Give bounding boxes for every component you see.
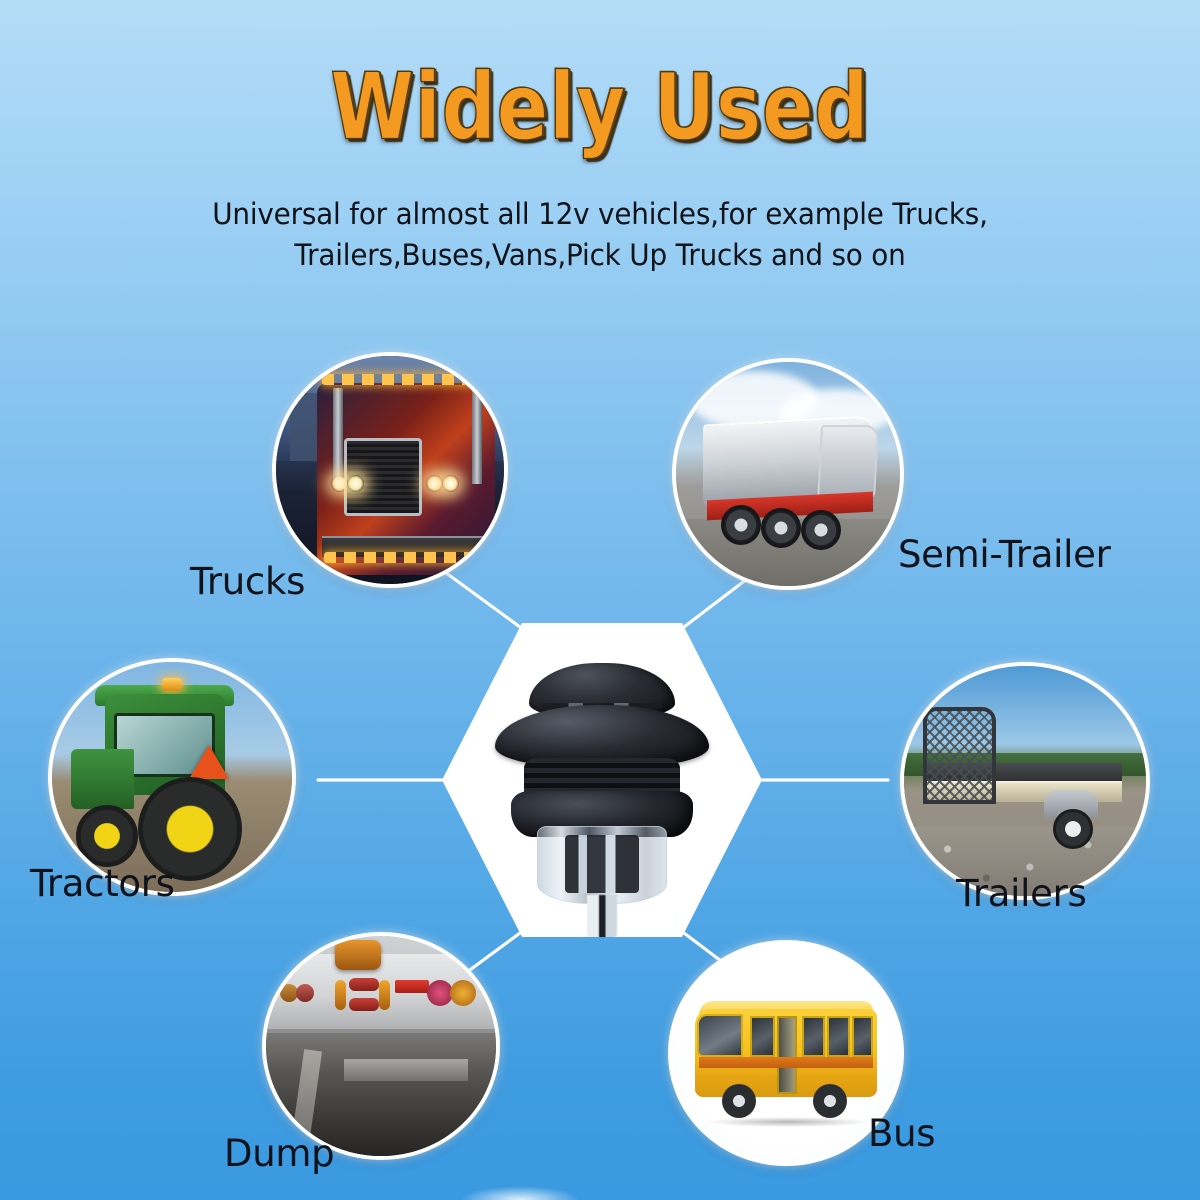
semi-wheel — [721, 505, 761, 545]
trucks-exhaust-stack — [333, 388, 343, 484]
label-dump: Dump — [224, 1132, 334, 1175]
header: Widely Used Universal for almost all 12v… — [0, 0, 1200, 276]
label-trailers: Trailers — [956, 872, 1086, 915]
center-hexagon — [442, 623, 762, 937]
bus-photo — [672, 944, 900, 1162]
subtitle: Universal for almost all 12v vehicles,fo… — [24, 194, 1176, 276]
semi-tailgate — [817, 425, 879, 501]
label-trucks: Trucks — [190, 560, 305, 603]
dump-tail-light — [450, 980, 476, 1006]
trucks-exhaust-stack — [472, 388, 482, 484]
image-trucks[interactable] — [272, 352, 508, 588]
bus-rear-wheel — [813, 1084, 847, 1118]
trucks-headlight — [426, 475, 443, 492]
bus-ground-shadow — [708, 1117, 868, 1127]
beacon-lens — [537, 826, 667, 904]
label-semi-trailer: Semi-Trailer — [898, 533, 1111, 576]
trucks-headlight — [347, 475, 364, 492]
bus-door — [777, 1016, 798, 1094]
bus-window — [827, 1016, 850, 1057]
semi-wheel — [801, 510, 841, 550]
image-semi-trailer[interactable] — [672, 358, 904, 590]
trucks-headlight — [442, 475, 459, 492]
trailers-photo — [904, 666, 1146, 896]
dump-marker-light — [379, 980, 390, 1010]
tractor-front-wheel — [76, 805, 138, 867]
dump-frame-beam — [344, 1059, 468, 1081]
trucks-headlight — [331, 475, 348, 492]
image-tractors[interactable] — [48, 658, 296, 896]
trailers-mesh-ramp-gate — [923, 707, 996, 804]
dump-amber-beacon — [335, 940, 381, 970]
infographic-canvas: Widely Used Universal for almost all 12v… — [0, 0, 1200, 1200]
bus-accent-stripe — [699, 1057, 872, 1068]
trailers-wheel — [1053, 809, 1093, 849]
bus-window — [750, 1016, 775, 1057]
tractors-photo — [52, 662, 292, 892]
image-trailers[interactable] — [900, 662, 1150, 900]
bus-front-wheel — [722, 1084, 756, 1118]
product-beacon-light-image — [487, 663, 717, 913]
beacon-lens-core — [565, 835, 639, 893]
beacon-wire — [587, 895, 617, 937]
page-title: Widely Used — [330, 62, 869, 154]
trucks-photo — [276, 356, 504, 584]
label-tractors: Tractors — [30, 862, 175, 905]
subtitle-line-2: Trailers,Buses,Vans,Pick Up Trucks and s… — [24, 235, 1176, 276]
dump-warning-sticker — [395, 980, 429, 993]
dump-marker-light — [335, 980, 346, 1010]
tractor-amber-beacon — [162, 678, 182, 691]
trucks-led-strip-bottom — [324, 552, 488, 563]
tractor-slow-vehicle-triangle — [189, 745, 229, 779]
bus-window — [802, 1016, 825, 1057]
bus-windshield — [697, 1014, 743, 1058]
dump-marker-light — [349, 998, 379, 1011]
tractor-front-loader — [71, 749, 133, 809]
dump-photo — [266, 936, 496, 1156]
semi-wheel — [761, 508, 801, 548]
bottom-highlight — [460, 1186, 580, 1200]
bus-window — [852, 1016, 873, 1057]
dump-marker-light — [349, 978, 379, 991]
image-dump[interactable] — [262, 932, 500, 1160]
label-bus: Bus — [868, 1112, 935, 1155]
subtitle-line-1: Universal for almost all 12v vehicles,fo… — [24, 194, 1176, 235]
trucks-led-strip-top — [322, 374, 491, 385]
semi-trailer-photo — [676, 362, 900, 586]
